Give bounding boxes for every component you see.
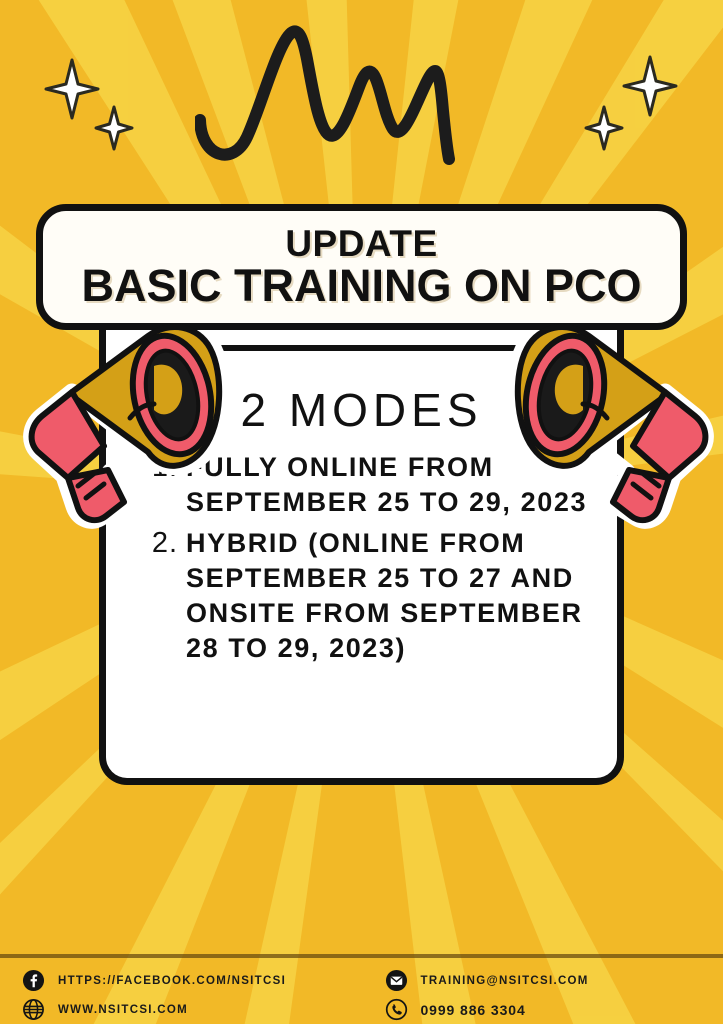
sparkle-star-small-right xyxy=(584,105,624,151)
footer-website-row[interactable]: WWW.NSITCSI.COM xyxy=(20,995,361,1024)
footer-facebook-row[interactable]: HTTPS://FACEBOOK.COM/NSITCSI xyxy=(20,966,361,995)
phone-number: 0999 886 3304 xyxy=(421,1002,526,1018)
email-address: TRAINING@NSITCSI.COM xyxy=(421,975,589,987)
facebook-icon xyxy=(20,967,47,994)
list-item: 2. HYBRID (ONLINE FROM SEPTEMBER 25 TO 2… xyxy=(140,526,600,666)
footer-column-right: TRAINING@NSITCSI.COM 0999 886 3304 xyxy=(361,958,723,1024)
footer-column-left: HTTPS://FACEBOOK.COM/NSITCSI WWW.NSITCSI… xyxy=(0,958,361,1024)
footer: HTTPS://FACEBOOK.COM/NSITCSI WWW.NSITCSI… xyxy=(0,958,723,1024)
sparkle-star-small-left xyxy=(94,105,134,151)
page-title-update: UPDATE xyxy=(285,225,437,263)
megaphone-icon-right xyxy=(505,300,723,545)
poster: 2 MODES 1. FULLY ONLINE FROM SEPTEMBER 2… xyxy=(0,0,723,1024)
sparkle-star-large-left xyxy=(44,58,100,120)
footer-phone-row[interactable]: 0999 886 3304 xyxy=(383,995,723,1024)
facebook-url: HTTPS://FACEBOOK.COM/NSITCSI xyxy=(58,975,286,987)
title-divider xyxy=(195,345,528,351)
globe-icon xyxy=(20,996,47,1023)
crown-squiggle-icon xyxy=(195,25,515,175)
list-item-label: HYBRID (ONLINE FROM SEPTEMBER 25 TO 27 A… xyxy=(186,526,600,666)
sparkle-star-large-right xyxy=(622,55,678,117)
envelope-icon xyxy=(383,967,410,994)
footer-email-row[interactable]: TRAINING@NSITCSI.COM xyxy=(383,966,723,995)
website-url: WWW.NSITCSI.COM xyxy=(58,1004,188,1016)
megaphone-icon-left xyxy=(12,300,232,545)
phone-icon xyxy=(383,996,410,1023)
